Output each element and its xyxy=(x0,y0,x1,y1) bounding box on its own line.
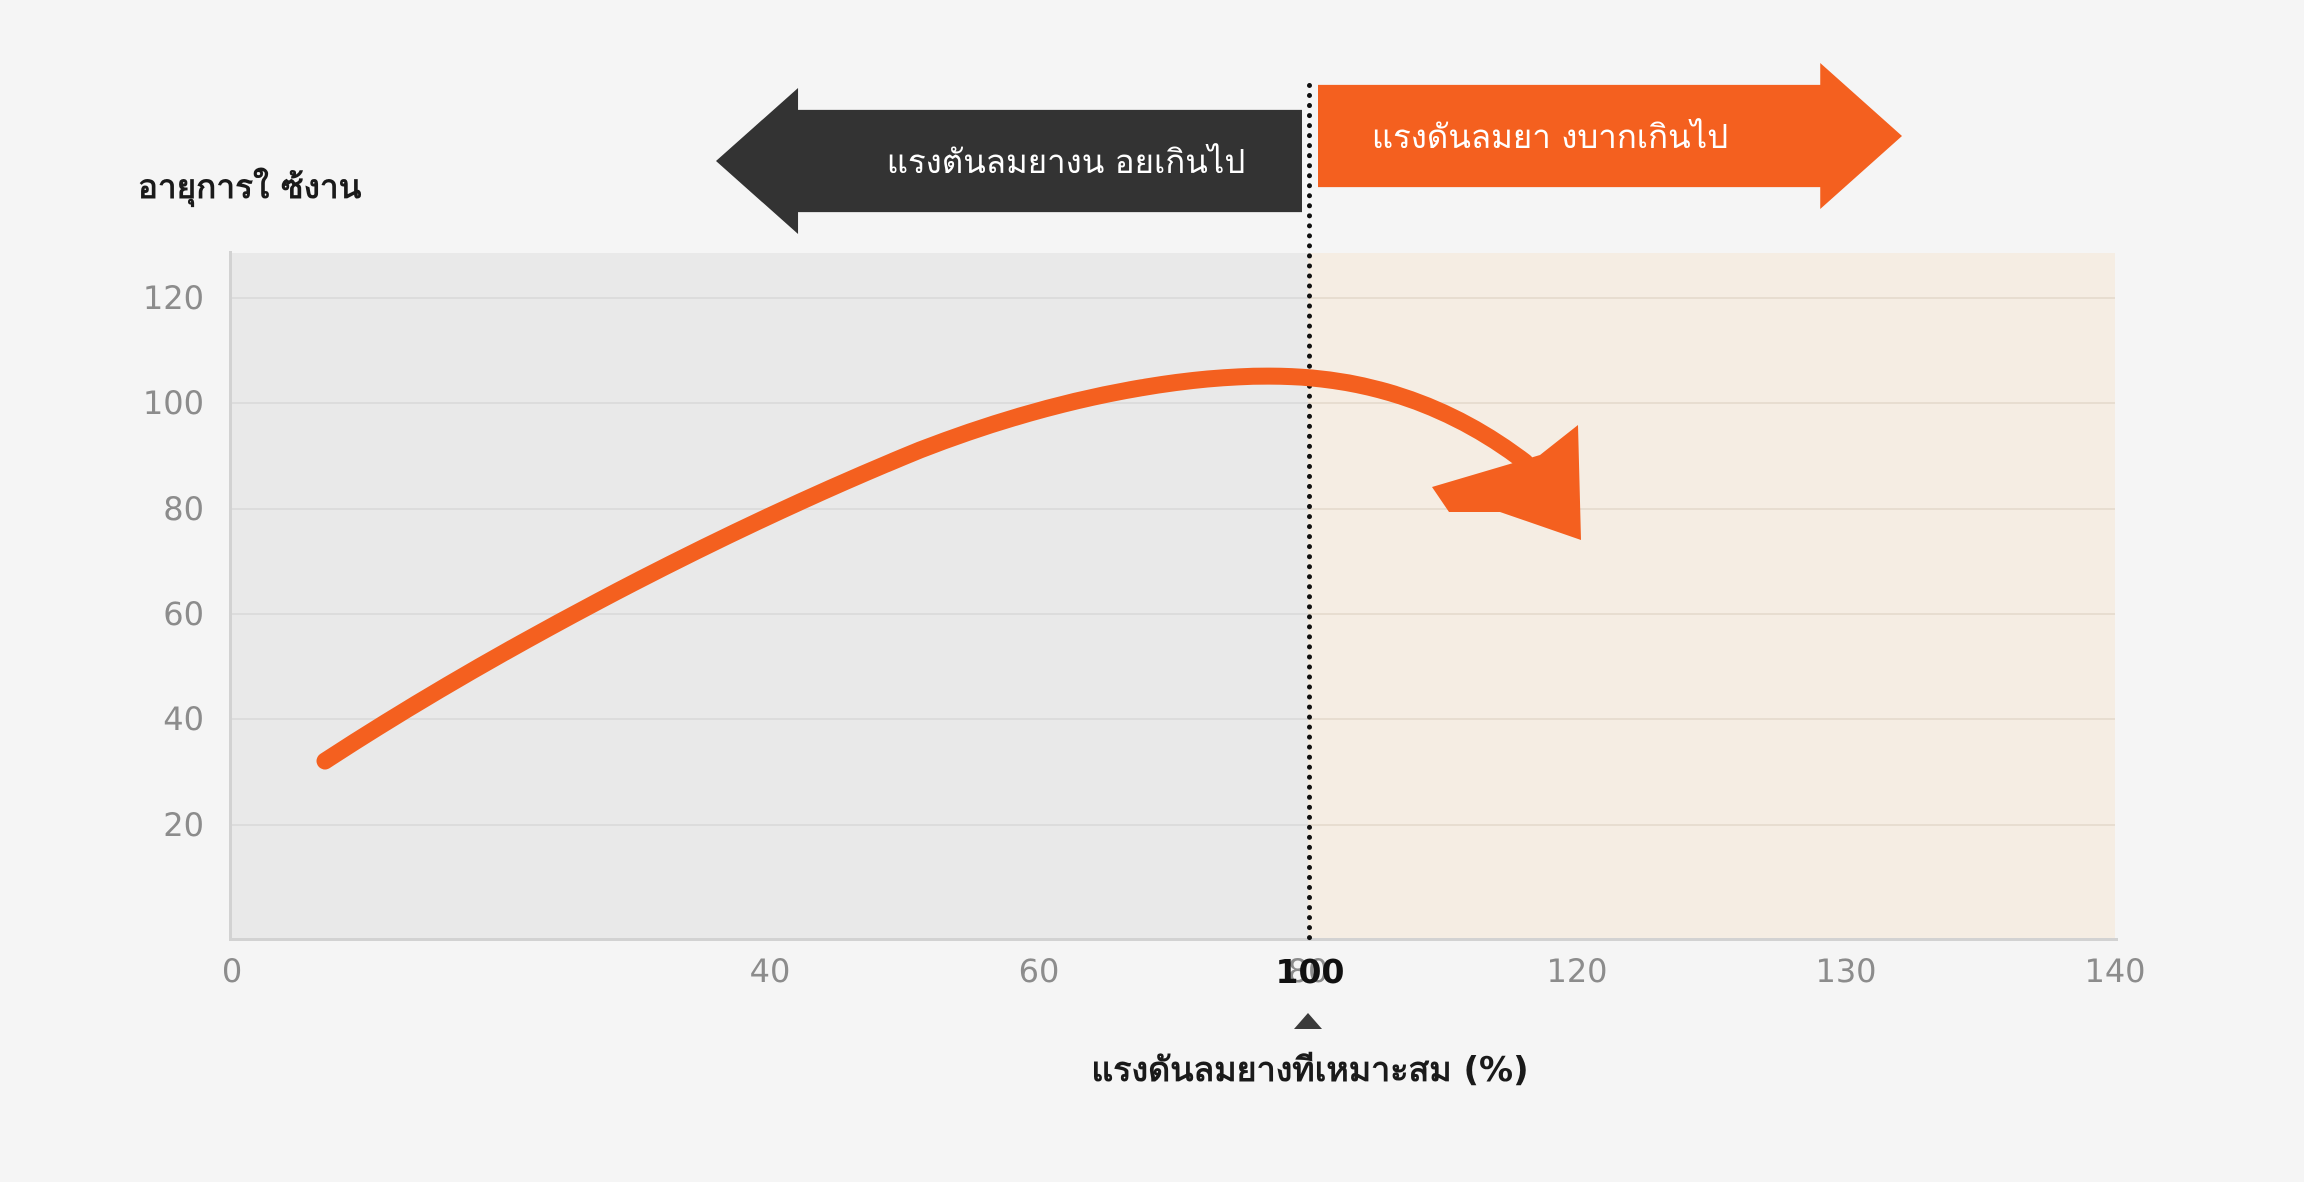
y-tick-100: 100 xyxy=(143,384,204,422)
x-tick-140: 140 xyxy=(2084,952,2145,990)
plot-area xyxy=(232,253,2115,938)
gridline-80 xyxy=(232,508,2115,510)
y-axis-ticks: 20 40 60 80 100 120 xyxy=(0,253,204,938)
y-tick-60: 60 xyxy=(163,595,204,633)
y-axis-title: อายุการใ ซ้งาน xyxy=(138,160,362,213)
gridline-40 xyxy=(232,718,2115,720)
optimal-point-marker-icon xyxy=(1294,1013,1322,1029)
x-tick-120: 120 xyxy=(1546,952,1607,990)
x-tick-130: 130 xyxy=(1815,952,1876,990)
x-tick-60: 60 xyxy=(1019,952,1060,990)
x-axis-ticks: 0 40 60 80 100 120 130 140 xyxy=(232,952,2115,1002)
x-tick-0: 0 xyxy=(222,952,242,990)
x-axis-title: แรงดันลมยางทีเหมาะสม (%) xyxy=(1091,1042,1528,1096)
y-tick-40: 40 xyxy=(163,700,204,738)
banner-high-pressure-label: แรงดันลมยา งบากเกินไป xyxy=(1330,63,1770,209)
x-tick-100: 100 xyxy=(1276,952,1345,991)
banner-low-pressure-label: แรงตันลมยางน อยเกินไป xyxy=(846,88,1286,234)
region-low-pressure-fill xyxy=(232,253,1308,938)
chart-canvas: อายุการใ ซ้งาน 20 40 60 80 100 120 0 40 … xyxy=(0,0,2304,1182)
y-tick-120: 120 xyxy=(143,279,204,317)
gridline-20 xyxy=(232,824,2115,826)
y-tick-20: 20 xyxy=(163,806,204,844)
optimal-pressure-divider xyxy=(1307,83,1312,941)
x-tick-40: 40 xyxy=(750,952,791,990)
y-axis-line xyxy=(229,251,232,940)
y-tick-80: 80 xyxy=(163,490,204,528)
region-high-pressure-fill xyxy=(1308,253,2115,938)
x-axis-line xyxy=(229,938,2118,941)
banner-high-pressure: แรงดันลมยา งบากเกินไป xyxy=(1318,63,1902,209)
gridline-60 xyxy=(232,613,2115,615)
gridline-100 xyxy=(232,402,2115,404)
banner-low-pressure: แรงตันลมยางน อยเกินไป xyxy=(716,88,1302,234)
gridline-120 xyxy=(232,297,2115,299)
